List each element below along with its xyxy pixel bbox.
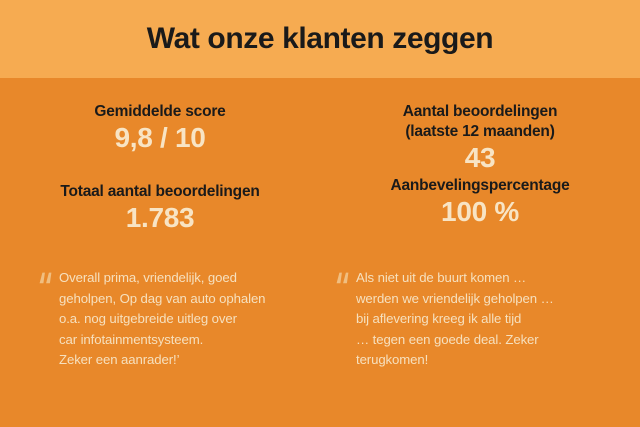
stat-average-score: Gemiddelde score 9,8 / 10 <box>0 102 320 154</box>
quote-mark-icon <box>336 272 350 284</box>
stat-total-reviews: Totaal aantal beoordelingen 1.783 <box>0 182 320 234</box>
review-quote-1: Overall prima, vriendelijk, goed geholpe… <box>0 268 320 393</box>
stat-recommendation-percentage: Aanbevelingspercentage 100 % <box>320 176 640 228</box>
stat-label: Aanbevelingspercentage <box>320 176 640 196</box>
page-title: Wat onze klanten zeggen <box>0 0 640 78</box>
stat-value: 43 <box>320 142 640 174</box>
stat-value: 9,8 / 10 <box>0 122 320 154</box>
stat-label: Gemiddelde score <box>0 102 320 122</box>
stat-value: 1.783 <box>0 202 320 234</box>
stats-column-left: Gemiddelde score 9,8 / 10 Totaal aantal … <box>0 78 320 258</box>
stats-section: Gemiddelde score 9,8 / 10 Totaal aantal … <box>0 78 640 258</box>
stat-label: Aantal beoordelingen (laatste 12 maanden… <box>320 102 640 142</box>
quotes-section: Overall prima, vriendelijk, goed geholpe… <box>0 268 640 393</box>
stat-value: 100 % <box>320 196 640 228</box>
stat-reviews-last-12-months: Aantal beoordelingen (laatste 12 maanden… <box>320 102 640 174</box>
review-quote-2: Als niet uit de buurt komen … werden we … <box>320 268 640 393</box>
customer-reviews-card: Wat onze klanten zeggen Gemiddelde score… <box>0 0 640 427</box>
quote-text: Overall prima, vriendelijk, goed geholpe… <box>59 268 265 371</box>
stats-column-right: Aantal beoordelingen (laatste 12 maanden… <box>320 78 640 258</box>
stat-label: Totaal aantal beoordelingen <box>0 182 320 202</box>
quote-text: Als niet uit de buurt komen … werden we … <box>356 268 554 371</box>
quote-mark-icon <box>39 272 53 284</box>
